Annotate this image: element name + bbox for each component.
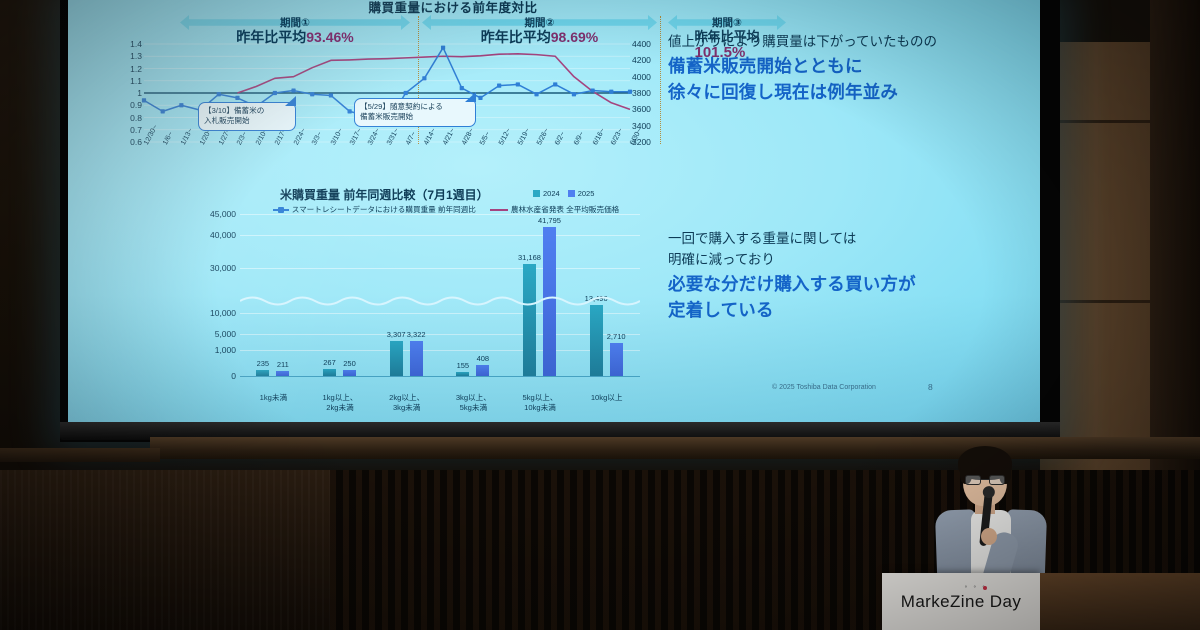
bar-category-label: 1kg未満 [242, 393, 304, 403]
hand [981, 528, 997, 545]
bar-2025 [410, 341, 423, 376]
bar-y-tick: 0 [231, 371, 236, 381]
line-chart-y-axis-left: 1.41.31.21.110.90.80.70.6 [116, 44, 142, 142]
bar-category-label: 10kg以上 [576, 393, 638, 403]
legend-label-2024: 2024 [543, 189, 560, 198]
bar-value-label: 211 [277, 360, 289, 369]
line-y-tick: 0.6 [130, 137, 142, 147]
bar-y-tick: 40,000 [210, 230, 236, 240]
bar-2024 [256, 370, 269, 376]
period-2-value: 昨年比平均98.69% [481, 30, 598, 45]
insight-2-line-2: 明確に減っており [668, 250, 1018, 271]
bar-2025 [343, 370, 356, 377]
line-chart-x-axis: 12/30~1/6~1/13~1/20~1/27~2/3~2/10~2/17~2… [144, 143, 630, 177]
bar-value-label: 155 [457, 361, 470, 370]
legend-label-2025: 2025 [578, 189, 595, 198]
line-y-tick: 1 [137, 88, 142, 98]
bar-chart-plot-area: 2352111kg未満2672501kg以上、 2kg未満3,3073,3222… [240, 200, 640, 376]
podium-sign: ˚ ˚ ˚ MarkeZine Day [882, 573, 1040, 630]
line-y-tick: 1.2 [130, 64, 142, 74]
line-y-tick: 1.3 [130, 51, 142, 61]
slide-copyright: © 2025 Toshiba Data Corporation [772, 384, 876, 391]
insight-2-line-3: 必要な分だけ購入する買い方が [668, 271, 1018, 297]
period-1-number: 93.46% [306, 29, 353, 45]
glasses-icon [965, 475, 1005, 485]
insight-1-line-3: 徐々に回復し現在は例年並み [668, 79, 1018, 105]
projection-screen-frame: 購買重量における前年度対比 期間① 昨年比平均93.46% 期間② [60, 0, 1060, 442]
bar-group: 3,3073,3222kg以上、 3kg未満 [373, 200, 440, 376]
bar-category-label: 5kg以上、 10kg未満 [509, 393, 571, 413]
bar-group: 13,4902,71010kg以上 [573, 200, 640, 376]
bar-2025 [610, 343, 623, 376]
line-y2-tick: 4400 [632, 39, 651, 49]
wall-right-edge [1150, 0, 1200, 470]
line-y-tick: 0.7 [130, 125, 142, 135]
bar-gridline [240, 376, 640, 377]
bar-category-label: 3kg以上、 5kg未満 [442, 393, 504, 413]
bar-category-label: 1kg以上、 2kg未満 [309, 393, 371, 413]
period-3-label: 期間③ [712, 15, 742, 30]
conference-room-scene: 購買重量における前年度対比 期間① 昨年比平均93.46% 期間② [0, 0, 1200, 630]
line-y2-tick: 3600 [632, 104, 651, 114]
bar-2024 [523, 264, 536, 376]
legend-item-2024: 2024 [533, 189, 560, 198]
line-y-tick: 1.4 [130, 39, 142, 49]
legend-item-2025: 2025 [568, 189, 595, 198]
bar-chart-y-axis: 01,0005,00010,00030,00040,00045,000 [188, 200, 236, 376]
bar-category-label: 2kg以上、 3kg未満 [376, 393, 438, 413]
period-2-number: 98.69% [551, 29, 598, 45]
bar-group: 2352111kg未満 [240, 200, 307, 376]
bar-2024 [390, 341, 403, 376]
line-y2-tick: 4000 [632, 72, 651, 82]
line-chart: 1.41.31.21.110.90.80.70.6 44004200400038… [116, 44, 756, 174]
period-1-prefix: 昨年比平均 [236, 29, 306, 45]
line-y2-tick: 4200 [632, 55, 651, 65]
period-3-number: 101.5% [694, 45, 759, 61]
logo-red-dot-icon [983, 586, 987, 590]
bar-y-tick: 5,000 [215, 329, 236, 339]
legend-swatch-2024-icon [533, 190, 540, 197]
bar-2024 [323, 369, 336, 376]
projection-screen: 購買重量における前年度対比 期間① 昨年比平均93.46% 期間② [68, 0, 1040, 422]
bar-chart: 米購買重量 前年同週比較（7月1週目） 2024 2025 01,0005,00… [188, 186, 658, 401]
bar-y-tick: 45,000 [210, 209, 236, 219]
bar-value-label: 41,795 [538, 216, 561, 225]
presentation-slide: 購買重量における前年度対比 期間① 昨年比平均93.46% 期間② [68, 0, 1040, 422]
bar-2025 [276, 371, 289, 376]
period-1-label: 期間① [280, 15, 310, 30]
bar-value-label: 3,322 [407, 330, 426, 339]
bar-value-label: 267 [323, 358, 336, 367]
bar-value-label: 31,168 [518, 253, 541, 262]
bar-chart-legend: 2024 2025 [533, 189, 594, 198]
axis-break-squiggle-icon [240, 294, 640, 308]
callout-1: 【3/10】備蓄米の 入札販売開始 [198, 102, 296, 131]
period-2-prefix: 昨年比平均 [481, 29, 551, 45]
bar-2024 [456, 372, 469, 376]
bar-y-tick: 30,000 [210, 263, 236, 273]
slide-page-number: 8 [928, 382, 933, 392]
stage-sill-left [0, 448, 160, 462]
insight-2-line-1: 一回で購入する重量に関しては [668, 229, 1018, 250]
bar-y-tick: 1,000 [215, 345, 236, 355]
period-1-value: 昨年比平均93.46% [236, 30, 353, 45]
bar-group: 2672501kg以上、 2kg未満 [307, 200, 374, 376]
bar-group: 1554083kg以上、 5kg未満 [440, 200, 507, 376]
bar-value-label: 2,710 [607, 332, 626, 341]
bar-2024 [590, 305, 603, 376]
wall-panel-left-lower [0, 470, 330, 630]
bar-value-label: 3,307 [387, 330, 406, 339]
period-2-label: 期間② [525, 15, 555, 30]
bar-2025 [476, 365, 489, 376]
logo-text: MarkeZine Day [901, 592, 1021, 611]
period-3-value: 昨年比平均 101.5% [694, 30, 759, 60]
legend-swatch-2025-icon [568, 190, 575, 197]
bar-y-tick: 10,000 [210, 308, 236, 318]
insight-2-line-4: 定着している [668, 297, 1018, 323]
line-y-tick: 0.9 [130, 100, 142, 110]
line-y-tick: 1.1 [130, 76, 142, 86]
markezine-day-logo: ˚ ˚ ˚ MarkeZine Day [901, 592, 1021, 612]
line-y2-tick: 3800 [632, 88, 651, 98]
bar-group: 31,16841,7955kg以上、 10kg未満 [507, 200, 574, 376]
callout-2: 【5/29】随意契約による 備蓄米販売開始 [354, 98, 476, 127]
bar-value-label: 235 [257, 359, 270, 368]
bar-value-label: 408 [477, 354, 490, 363]
bar-value-label: 250 [343, 359, 356, 368]
period-3-prefix: 昨年比平均 [694, 29, 759, 44]
podium-body [1040, 573, 1200, 630]
line-y-tick: 0.8 [130, 113, 142, 123]
insight-block-2: 一回で購入する重量に関しては 明確に減っており 必要な分だけ購入する買い方が 定… [668, 229, 1018, 323]
